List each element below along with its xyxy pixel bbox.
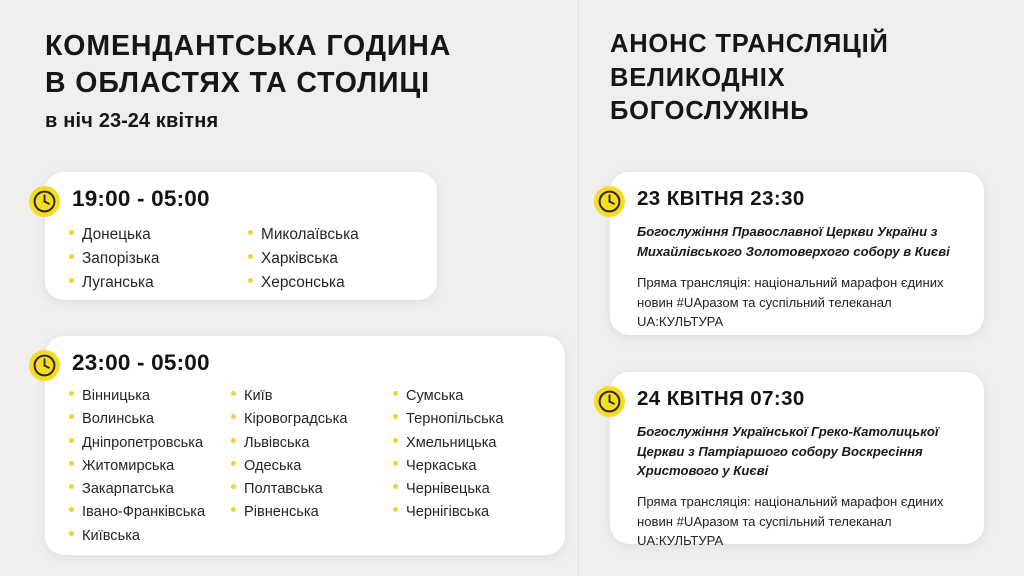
- list-item: Івано-Франківська: [69, 501, 231, 524]
- region-label: Житомирська: [82, 455, 174, 478]
- list-item: Чернівецька: [393, 478, 555, 501]
- list-item: Черкаська: [393, 455, 555, 478]
- broadcast-title: АНОНС ТРАНСЛЯЦІЙ ВЕЛИКОДНІХ БОГОСЛУЖІНЬ: [610, 28, 1010, 129]
- broadcast-card-1-note: Пряма трансляція: національний марафон є…: [637, 273, 968, 332]
- list-item: Рівненська: [231, 501, 393, 524]
- list-item: Тернопільська: [393, 408, 555, 431]
- region-label: Івано-Франківська: [82, 501, 205, 524]
- broadcast-card-2: 24 КВІТНЯ 07:30 Богослужіння Української…: [610, 372, 984, 544]
- list-item: Закарпатська: [69, 478, 231, 501]
- list-item: Житомирська: [69, 455, 231, 478]
- list-item: Чернігівська: [393, 501, 555, 524]
- list-item: Одеська: [231, 455, 393, 478]
- bullet-icon: [393, 461, 398, 466]
- list-item: Волинська: [69, 408, 231, 431]
- curfew-card-2: 23:00 - 05:00 Вінницька Волинська Дніпро…: [45, 336, 565, 555]
- broadcast-card-1-description: Богослужіння Православної Церкви України…: [637, 222, 968, 261]
- region-label: Миколаївська: [261, 223, 359, 247]
- list-item: Київська: [69, 525, 231, 548]
- list-item: Дніпропетровська: [69, 432, 231, 455]
- list-item: Вінницька: [69, 385, 231, 408]
- curfew-panel: КОМЕНДАНТСЬКА ГОДИНА В ОБЛАСТЯХ ТА СТОЛИ…: [0, 0, 578, 576]
- curfew-subtitle-prefix: в ніч: [45, 110, 99, 132]
- region-label: Дніпропетровська: [82, 432, 203, 455]
- bullet-icon: [393, 484, 398, 489]
- region-label: Чернігівська: [406, 501, 489, 524]
- list-item: Сумська: [393, 385, 555, 408]
- broadcast-card-2-note: Пряма трансляція: національний марафон є…: [637, 492, 968, 551]
- list-item: Львівська: [231, 432, 393, 455]
- broadcast-card-1-time: 23 КВІТНЯ 23:30: [637, 187, 805, 211]
- region-label: Херсонська: [261, 271, 345, 295]
- region-column: Київ Кіровоградська Львівська Одеська По…: [231, 385, 393, 548]
- region-label: Одеська: [244, 455, 301, 478]
- bullet-icon: [69, 461, 74, 466]
- curfew-card-1-regions: Донецька Запорізька Луганська Миколаївсь…: [69, 223, 427, 295]
- bullet-icon: [231, 484, 236, 489]
- curfew-subtitle: в ніч 23-24 квітня: [45, 110, 218, 133]
- broadcast-title-line-2: ВЕЛИКОДНІХ: [610, 62, 1010, 96]
- region-label: Донецька: [82, 223, 151, 247]
- list-item: Харківська: [248, 247, 427, 271]
- bullet-icon: [231, 507, 236, 512]
- region-label: Закарпатська: [82, 478, 174, 501]
- list-item: Миколаївська: [248, 223, 427, 247]
- bullet-icon: [393, 438, 398, 443]
- curfew-subtitle-suffix: квітня: [150, 110, 218, 132]
- curfew-title: КОМЕНДАНТСЬКА ГОДИНА В ОБЛАСТЯХ ТА СТОЛИ…: [45, 28, 545, 102]
- bullet-icon: [393, 414, 398, 419]
- region-label: Хмельницька: [406, 432, 497, 455]
- list-item: Луганська: [69, 271, 248, 295]
- list-item: Донецька: [69, 223, 248, 247]
- region-label: Харківська: [261, 247, 338, 271]
- list-item: Кіровоградська: [231, 408, 393, 431]
- bullet-icon: [69, 254, 74, 259]
- region-label: Київ: [244, 385, 272, 408]
- region-column: Вінницька Волинська Дніпропетровська Жит…: [69, 385, 231, 548]
- region-label: Запорізька: [82, 247, 159, 271]
- region-label: Полтавська: [244, 478, 323, 501]
- region-label: Львівська: [244, 432, 310, 455]
- region-label: Рівненська: [244, 501, 319, 524]
- curfew-card-2-time: 23:00 - 05:00: [72, 350, 210, 376]
- broadcast-card-1: 23 КВІТНЯ 23:30 Богослужіння Православно…: [610, 172, 984, 335]
- bullet-icon: [393, 391, 398, 396]
- infographic-page: КОМЕНДАНТСЬКА ГОДИНА В ОБЛАСТЯХ ТА СТОЛИ…: [0, 0, 1024, 576]
- bullet-icon: [393, 507, 398, 512]
- bullet-icon: [69, 531, 74, 536]
- curfew-subtitle-dates: 23-24: [99, 110, 150, 132]
- bullet-icon: [248, 278, 253, 283]
- region-label: Тернопільська: [406, 408, 504, 431]
- bullet-icon: [231, 438, 236, 443]
- curfew-card-2-regions: Вінницька Волинська Дніпропетровська Жит…: [69, 385, 555, 548]
- bullet-icon: [69, 414, 74, 419]
- region-column: Донецька Запорізька Луганська: [69, 223, 248, 295]
- clock-icon: [594, 386, 625, 417]
- clock-icon: [29, 350, 60, 381]
- region-label: Кіровоградська: [244, 408, 347, 431]
- broadcast-title-line-3: БОГОСЛУЖІНЬ: [610, 95, 1010, 129]
- list-item: Київ: [231, 385, 393, 408]
- list-item: Запорізька: [69, 247, 248, 271]
- region-label: Київська: [82, 525, 140, 548]
- bullet-icon: [231, 461, 236, 466]
- bullet-icon: [231, 414, 236, 419]
- bullet-icon: [69, 507, 74, 512]
- bullet-icon: [248, 254, 253, 259]
- list-item: Херсонська: [248, 271, 427, 295]
- curfew-title-line-2: В ОБЛАСТЯХ ТА СТОЛИЦІ: [45, 65, 545, 102]
- region-column: Сумська Тернопільська Хмельницька Черкас…: [393, 385, 555, 548]
- region-label: Сумська: [406, 385, 463, 408]
- bullet-icon: [248, 230, 253, 235]
- region-label: Луганська: [82, 271, 154, 295]
- curfew-card-1: 19:00 - 05:00 Донецька Запорізька Луганс…: [45, 172, 437, 300]
- broadcast-card-2-description: Богослужіння Української Греко-Католицьк…: [637, 422, 968, 481]
- region-label: Чернівецька: [406, 478, 490, 501]
- bullet-icon: [69, 391, 74, 396]
- curfew-card-1-time: 19:00 - 05:00: [72, 186, 210, 212]
- region-label: Волинська: [82, 408, 154, 431]
- list-item: Хмельницька: [393, 432, 555, 455]
- region-label: Черкаська: [406, 455, 477, 478]
- region-label: Вінницька: [82, 385, 150, 408]
- clock-icon: [594, 186, 625, 217]
- broadcast-card-2-time: 24 КВІТНЯ 07:30: [637, 387, 805, 411]
- bullet-icon: [69, 278, 74, 283]
- region-column: Миколаївська Харківська Херсонська: [248, 223, 427, 295]
- bullet-icon: [69, 438, 74, 443]
- bullet-icon: [69, 230, 74, 235]
- broadcast-title-line-1: АНОНС ТРАНСЛЯЦІЙ: [610, 28, 1010, 62]
- curfew-title-line-1: КОМЕНДАНТСЬКА ГОДИНА: [45, 28, 545, 65]
- clock-icon: [29, 186, 60, 217]
- list-item: Полтавська: [231, 478, 393, 501]
- bullet-icon: [69, 484, 74, 489]
- bullet-icon: [231, 391, 236, 396]
